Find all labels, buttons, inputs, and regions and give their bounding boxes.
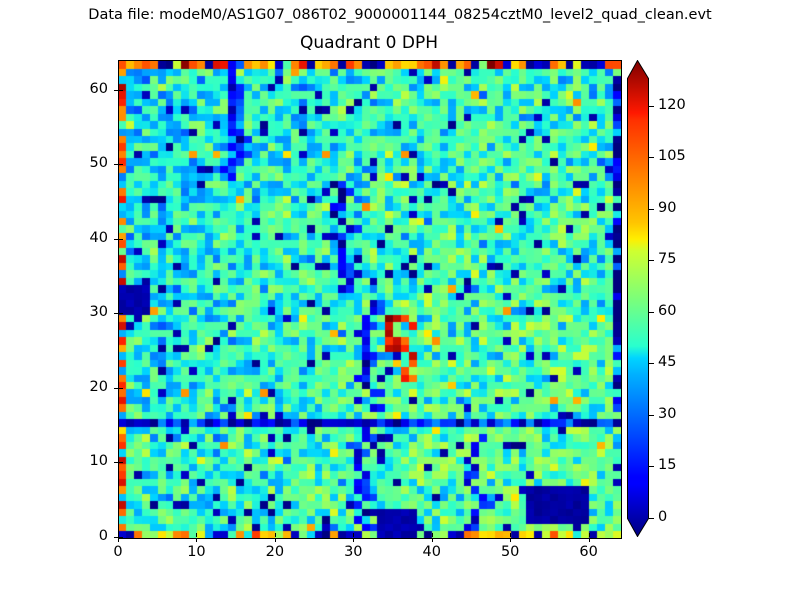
colorbar-tick-label: 30: [658, 406, 676, 423]
x-tick-mark-inner: [432, 533, 433, 537]
y-tick-label: 60: [70, 81, 108, 98]
x-tick-label: 60: [569, 544, 609, 561]
x-tick-mark-inner: [589, 533, 590, 537]
y-tick-label: 20: [70, 379, 108, 396]
x-tick-mark-inner: [510, 533, 511, 537]
y-tick-mark: [114, 313, 118, 314]
y-tick-mark: [114, 164, 118, 165]
axes-title: Quadrant 0 DPH: [118, 33, 620, 53]
y-tick-mark-inner: [119, 313, 123, 314]
y-tick-mark-inner: [119, 537, 123, 538]
colorbar-tick-label: 120: [658, 97, 686, 114]
x-tick-label: 0: [98, 544, 138, 561]
y-tick-mark-inner: [119, 388, 123, 389]
y-tick-label: 0: [70, 528, 108, 545]
y-tick-label: 30: [70, 304, 108, 321]
x-tick-mark: [196, 538, 197, 542]
x-tick-mark: [510, 538, 511, 542]
colorbar-tick-mark: [649, 209, 654, 210]
colorbar-tick-mark: [649, 312, 654, 313]
colorbar-tick-label: 90: [658, 200, 676, 217]
y-tick-mark-inner: [119, 462, 123, 463]
y-tick-label: 50: [70, 155, 108, 172]
y-tick-mark: [114, 537, 118, 538]
y-tick-mark: [114, 462, 118, 463]
y-tick-mark-inner: [119, 164, 123, 165]
colorbar-tick-mark: [649, 415, 654, 416]
colorbar-gradient: [627, 60, 649, 537]
colorbar-tick-label: 105: [658, 148, 686, 165]
x-tick-label: 20: [255, 544, 295, 561]
x-tick-mark: [432, 538, 433, 542]
heatmap-axes[interactable]: [118, 60, 622, 539]
x-tick-label: 40: [412, 544, 452, 561]
colorbar-tick-mark: [649, 363, 654, 364]
x-tick-mark: [118, 538, 119, 542]
x-tick-mark: [353, 538, 354, 542]
x-tick-mark-inner: [353, 533, 354, 537]
colorbar-tick-label: 15: [658, 457, 676, 474]
figure-suptitle: Data file: modeM0/AS1G07_086T02_90000011…: [0, 6, 800, 24]
colorbar-tick-label: 75: [658, 251, 676, 268]
x-tick-mark-inner: [196, 533, 197, 537]
colorbar-tick-mark: [649, 260, 654, 261]
colorbar-tick-mark: [649, 157, 654, 158]
figure-canvas: Data file: modeM0/AS1G07_086T02_90000011…: [0, 0, 800, 600]
colorbar-tick-label: 60: [658, 303, 676, 320]
colorbar[interactable]: [627, 60, 649, 537]
heatmap-image[interactable]: [119, 61, 621, 538]
x-tick-label: 10: [176, 544, 216, 561]
colorbar-tick-mark: [649, 466, 654, 467]
y-tick-mark-inner: [119, 90, 123, 91]
colorbar-tick-mark: [649, 518, 654, 519]
y-tick-mark-inner: [119, 239, 123, 240]
colorbar-tick-label: 45: [658, 354, 676, 371]
y-tick-mark: [114, 90, 118, 91]
colorbar-tick-label: 0: [658, 509, 667, 526]
colorbar-tick-mark: [649, 106, 654, 107]
x-tick-label: 30: [333, 544, 373, 561]
x-tick-mark: [275, 538, 276, 542]
y-tick-label: 40: [70, 230, 108, 247]
x-tick-label: 50: [490, 544, 530, 561]
y-tick-mark: [114, 388, 118, 389]
y-tick-label: 10: [70, 453, 108, 470]
y-tick-mark: [114, 239, 118, 240]
x-tick-mark-inner: [275, 533, 276, 537]
x-tick-mark: [589, 538, 590, 542]
